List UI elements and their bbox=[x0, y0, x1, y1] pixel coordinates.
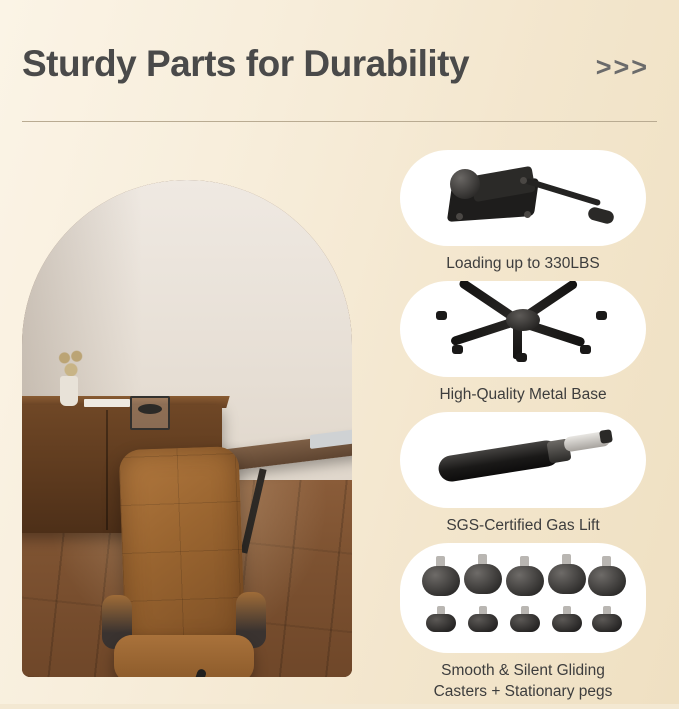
feature-image-tilt-mechanism bbox=[400, 150, 646, 246]
feature-list: Loading up to 330LBS High bbox=[392, 150, 654, 709]
caster-wheel-body bbox=[588, 566, 626, 596]
mechanism-tension-knob bbox=[450, 169, 480, 199]
gas-lift-cap bbox=[599, 429, 613, 444]
peg-cap bbox=[468, 614, 498, 632]
books-decor bbox=[84, 399, 130, 407]
feature-caption-casters-and-pegs: Smooth & Silent Gliding Casters + Statio… bbox=[392, 661, 654, 703]
base-hub bbox=[506, 309, 540, 331]
base-foot bbox=[596, 311, 607, 320]
hero-photo-office-chair bbox=[22, 180, 352, 677]
casters-and-pegs-icon bbox=[416, 554, 630, 642]
product-infographic-page: Sturdy Parts for Durability >>> bbox=[0, 0, 679, 704]
caster-wheel-body bbox=[422, 566, 460, 596]
vase-decor bbox=[60, 376, 78, 406]
mechanism-lever-handle bbox=[587, 206, 615, 225]
mechanism-screw bbox=[456, 213, 463, 220]
peg-cap bbox=[510, 614, 540, 632]
caster-wheel bbox=[506, 556, 544, 596]
feature-gas-lift: SGS-Certified Gas Lift bbox=[392, 412, 654, 537]
plant-decor bbox=[58, 346, 84, 380]
chevron-right-arrows-icon: >>> bbox=[596, 52, 649, 83]
feature-tilt-mechanism: Loading up to 330LBS bbox=[392, 150, 654, 275]
caster-wheel bbox=[422, 556, 460, 596]
caster-wheel-body bbox=[506, 566, 544, 596]
chair-backrest bbox=[119, 446, 246, 650]
feature-caption-metal-base: High-Quality Metal Base bbox=[392, 385, 654, 406]
feature-image-casters-and-pegs bbox=[400, 543, 646, 653]
gas-lift-cylinder bbox=[437, 438, 562, 483]
stationary-peg bbox=[592, 606, 622, 632]
peg-cap bbox=[592, 614, 622, 632]
chair-seat bbox=[114, 635, 254, 677]
feature-metal-base: High-Quality Metal Base bbox=[392, 281, 654, 406]
mechanism-screw bbox=[524, 211, 531, 218]
room-scene bbox=[22, 180, 352, 677]
caption-line-2: Casters + Stationary pegs bbox=[392, 682, 654, 703]
caster-wheel bbox=[464, 554, 502, 594]
base-foot bbox=[580, 345, 591, 354]
caster-wheel bbox=[548, 554, 586, 594]
caster-wheel-body bbox=[464, 564, 502, 594]
base-foot bbox=[516, 353, 527, 362]
credenza-seam bbox=[106, 410, 108, 530]
decor-box bbox=[130, 396, 170, 430]
gas-lift-icon bbox=[428, 432, 618, 488]
feature-casters-and-pegs: Smooth & Silent Gliding Casters + Statio… bbox=[392, 543, 654, 703]
caption-line-1: Smooth & Silent Gliding bbox=[392, 661, 654, 682]
stationary-peg bbox=[468, 606, 498, 632]
tilt-mechanism-icon bbox=[428, 161, 618, 235]
peg-cap bbox=[426, 614, 456, 632]
mechanism-screw bbox=[520, 177, 527, 184]
peg-cap bbox=[552, 614, 582, 632]
header-divider bbox=[22, 121, 657, 122]
stationary-peg bbox=[552, 606, 582, 632]
base-foot bbox=[436, 311, 447, 320]
caster-wheel bbox=[588, 556, 626, 596]
feature-caption-gas-lift: SGS-Certified Gas Lift bbox=[392, 516, 654, 537]
stationary-peg bbox=[510, 606, 540, 632]
stationary-peg bbox=[426, 606, 456, 632]
base-foot bbox=[452, 345, 463, 354]
feature-image-metal-base bbox=[400, 281, 646, 377]
header: Sturdy Parts for Durability >>> bbox=[0, 0, 679, 122]
feature-caption-tilt-mechanism: Loading up to 330LBS bbox=[392, 254, 654, 275]
metal-base-icon bbox=[430, 293, 616, 365]
feature-image-gas-lift bbox=[400, 412, 646, 508]
caster-wheel-body bbox=[548, 564, 586, 594]
page-title: Sturdy Parts for Durability bbox=[22, 43, 469, 85]
